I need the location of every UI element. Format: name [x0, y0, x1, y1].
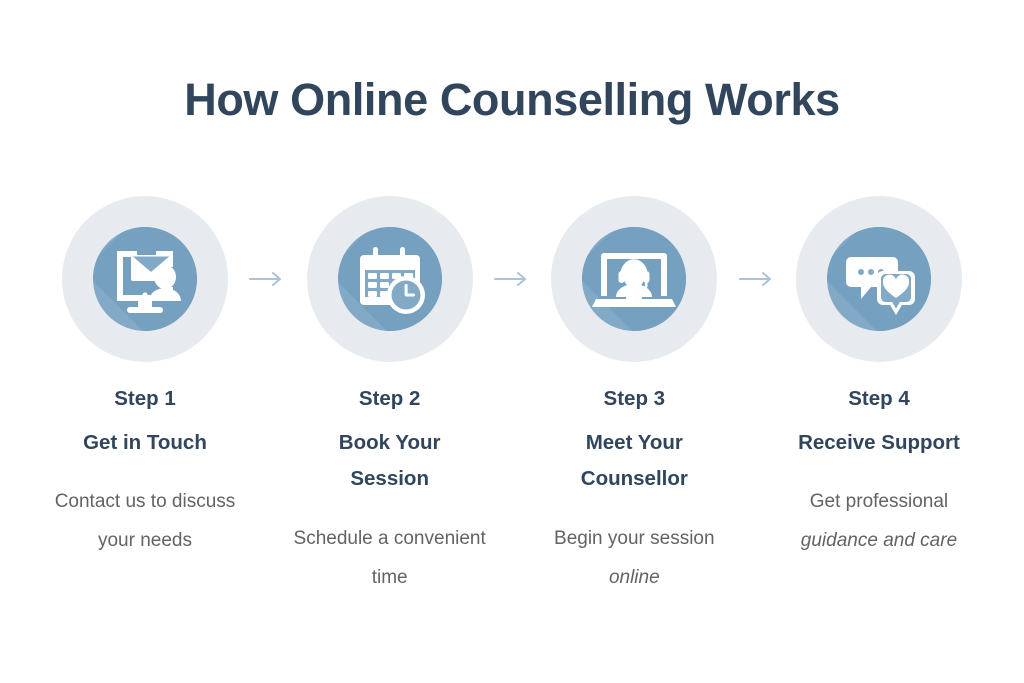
step-card-3: Step 3 Meet Your Counsellor Begin your s…: [531, 196, 737, 598]
page-title: How Online Counselling Works: [0, 74, 1024, 126]
step-badge-2: [307, 196, 473, 362]
step-description-3: Begin your session online: [535, 520, 733, 598]
step-description-text-2: Schedule a convenient time: [294, 528, 486, 588]
step-description-text-3: Begin your session: [554, 528, 715, 549]
step-number-1: Step 1: [114, 386, 176, 411]
step-description-4: Get professional guidance and care: [780, 483, 978, 561]
step-description-text-4: Get professional: [810, 491, 948, 512]
step-badge-4: [796, 196, 962, 362]
step-number-2: Step 2: [359, 386, 421, 411]
infographic-canvas: How Online Counselling Works: [0, 0, 1024, 683]
step-title-1: Get in Touch: [83, 425, 207, 461]
arrow-step-1-to-2: [244, 196, 290, 362]
monitor-envelope-person-icon: [93, 227, 197, 331]
step-title-2: Book Your Session: [305, 425, 475, 498]
step-card-2: Step 2 Book Your Session Schedule a conv…: [287, 196, 493, 598]
step-title-3: Meet Your Counsellor: [549, 425, 719, 498]
step-card-1: Step 1 Get in Touch Contact us to discus…: [42, 196, 248, 561]
arrow-step-3-to-4: [734, 196, 780, 362]
step-badge-3: [551, 196, 717, 362]
step-description-2: Schedule a convenient time: [291, 520, 489, 598]
laptop-headset-person-icon: [582, 227, 686, 331]
step-card-4: Step 4 Receive Support Get professional …: [776, 196, 982, 561]
step-number-3: Step 3: [604, 386, 666, 411]
steps-row: Step 1 Get in Touch Contact us to discus…: [42, 196, 982, 598]
calendar-clock-icon: [338, 227, 442, 331]
chat-bubbles-heart-icon: [827, 227, 931, 331]
step-number-4: Step 4: [848, 386, 910, 411]
step-description-emphasis-3: online: [609, 567, 660, 588]
step-title-4: Receive Support: [798, 425, 960, 461]
step-badge-1: [62, 196, 228, 362]
step-description-text-1: Contact us to discuss your needs: [55, 491, 236, 551]
step-description-1: Contact us to discuss your needs: [46, 483, 244, 561]
step-description-emphasis-4: guidance and care: [801, 530, 957, 551]
arrow-step-2-to-3: [489, 196, 535, 362]
